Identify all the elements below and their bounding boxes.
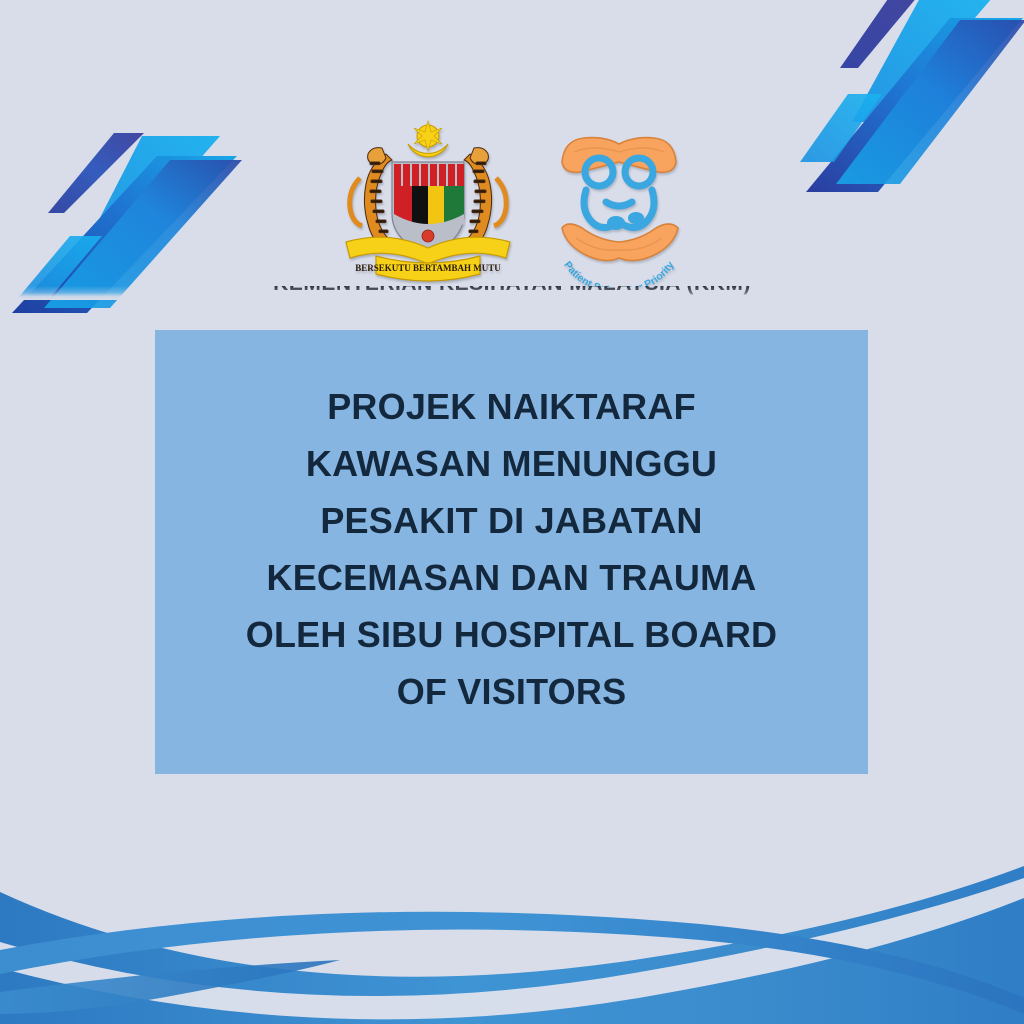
title-line-5: OLEH SIBU HOSPITAL BOARD: [246, 606, 778, 663]
title-line-1: PROJEK NAIKTARAF: [327, 378, 696, 435]
title-line-3: PESAKIT DI JABATAN: [320, 492, 702, 549]
jata-negara-coat-of-arms-logo: BERSEKUTU BERTAMBAH MUTU: [330, 118, 526, 290]
title-line-2: KAWASAN MENUNGGU: [306, 435, 717, 492]
slide-canvas: BERSEKUTU BERTAMBAH MUTU: [0, 0, 1024, 1024]
title-panel: PROJEK NAIKTARAF KAWASAN MENUNGGU PESAKI…: [155, 330, 868, 774]
decoration-bottom-waves: [0, 864, 1024, 1024]
moh-tagline: Patient Safety Our Priority: [561, 259, 677, 287]
title-line-4: KECEMASAN DAN TRAUMA: [267, 549, 757, 606]
organisation-line-fade-mask: [0, 286, 1024, 300]
logo-row: BERSEKUTU BERTAMBAH MUTU: [0, 118, 1024, 298]
title-line-6: OF VISITORS: [397, 663, 627, 720]
ministry-of-health-logo: Patient Safety Our Priority: [544, 122, 694, 287]
coat-of-arms-motto: BERSEKUTU BERTAMBAH MUTU: [355, 263, 501, 273]
